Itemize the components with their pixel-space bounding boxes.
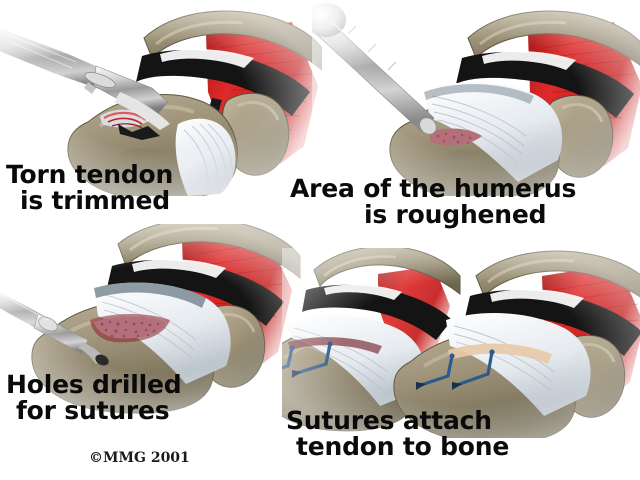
caption-panel-4-line2: tendon to bone xyxy=(286,434,509,460)
caption-panel-1: Torn tendonis trimmed xyxy=(6,162,173,214)
caption-panel-1-line1: Torn tendon xyxy=(6,160,173,189)
illustration-canvas: Torn tendonis trimmed xyxy=(0,0,640,480)
caption-panel-3: Holes drilledfor sutures xyxy=(6,372,181,424)
caption-panel-2: Area of the humerusis roughened xyxy=(290,176,576,228)
panel-area-of-the-humerus-is-roughened xyxy=(312,0,640,196)
caption-panel-4-line1: Sutures attach xyxy=(286,406,492,435)
caption-panel-1-line2: is trimmed xyxy=(6,188,173,214)
caption-panel-4: Sutures attachtendon to bone xyxy=(286,408,509,460)
caption-panel-2-line2: is roughened xyxy=(290,202,576,228)
panel-2-artwork xyxy=(312,0,640,196)
copyright-notice: ©MMG 2001 xyxy=(89,450,190,466)
caption-panel-3-line2: for sutures xyxy=(6,398,181,424)
caption-panel-3-line1: Holes drilled xyxy=(6,370,181,399)
caption-panel-2-line1: Area of the humerus xyxy=(290,174,576,203)
